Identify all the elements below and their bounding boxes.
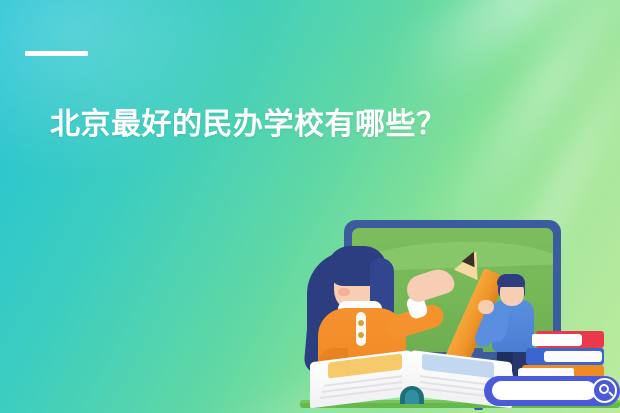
teacher-button: [358, 320, 364, 326]
search-input[interactable]: [492, 381, 596, 400]
teacher-cheek: [338, 288, 350, 296]
student-hair-front: [497, 274, 525, 287]
book-red-pages: [532, 334, 582, 346]
teacher-button: [358, 332, 364, 338]
open-book-spine-inner: [405, 390, 419, 404]
light-streak: [393, 0, 620, 106]
page-title: 北京最好的民办学校有哪些？: [50, 106, 447, 144]
teacher-placket: [356, 312, 366, 346]
article-header-banner: 北京最好的民办学校有哪些？: [0, 0, 620, 413]
student-hand: [478, 300, 494, 314]
corner-glow: [0, 0, 260, 180]
book-blue-pages: [544, 351, 602, 362]
title-accent-bar: [25, 51, 88, 56]
education-illustration: [300, 208, 620, 413]
